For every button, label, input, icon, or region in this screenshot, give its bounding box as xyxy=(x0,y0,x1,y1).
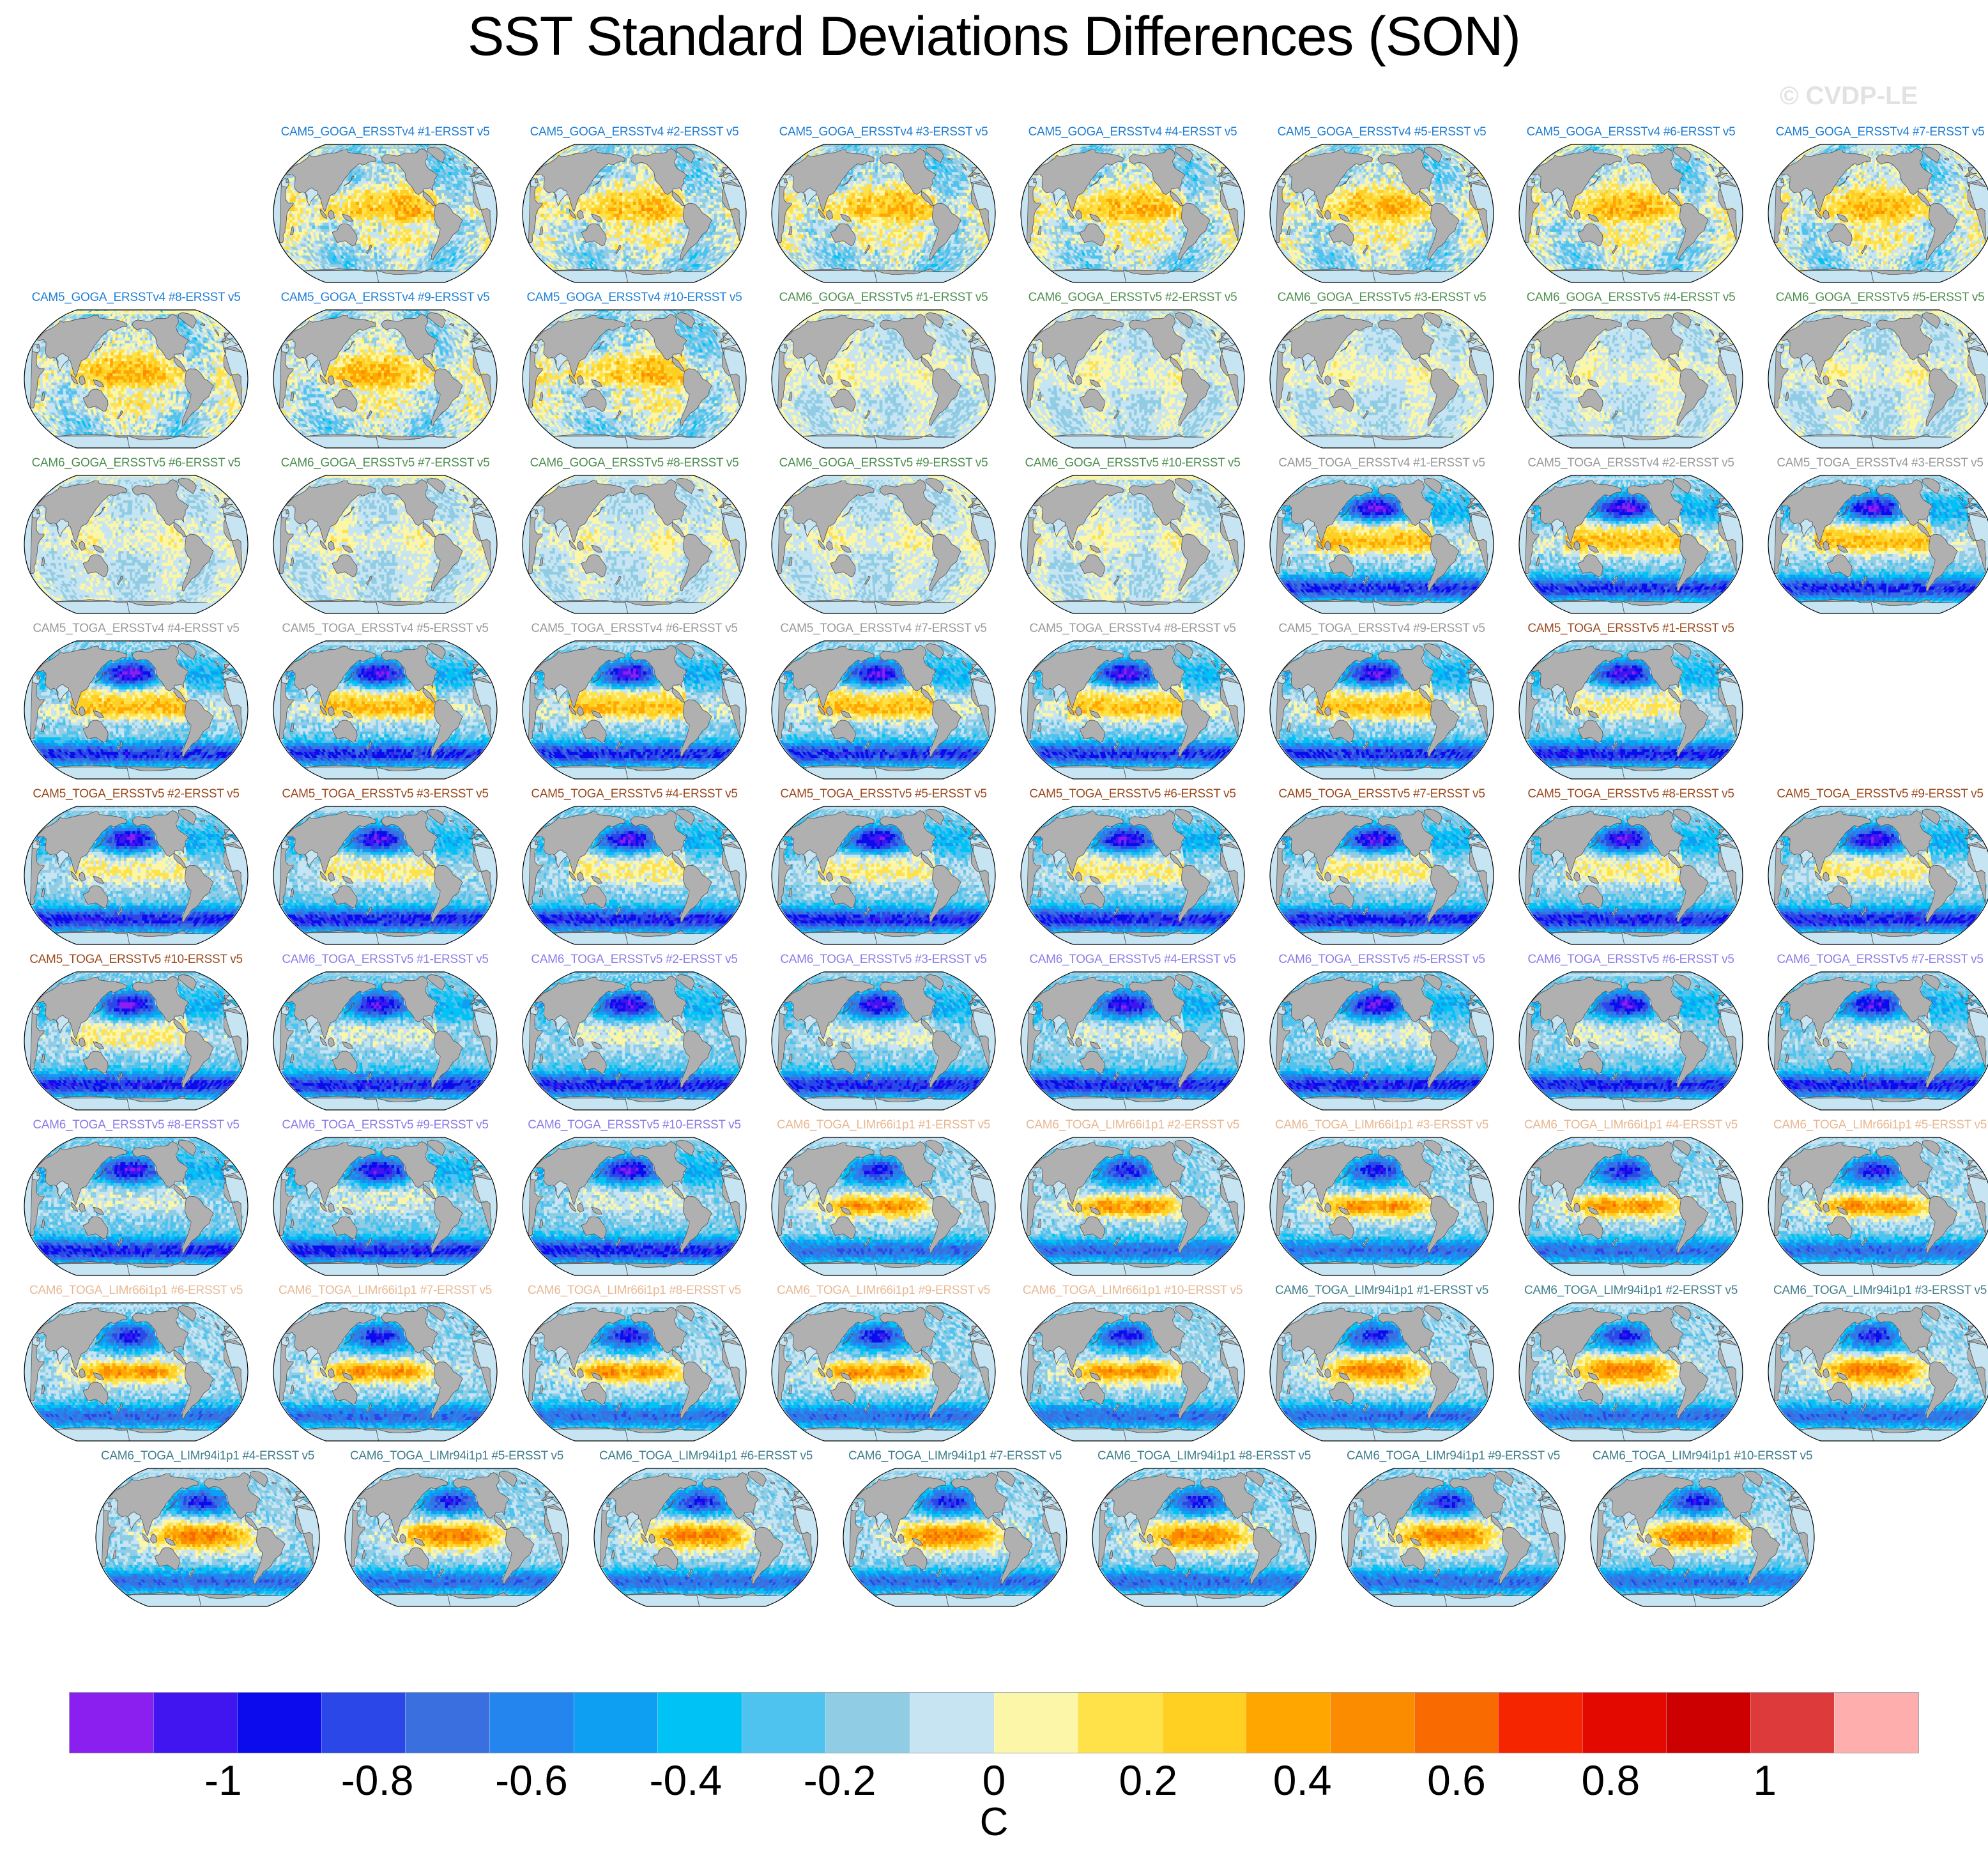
map-canvas xyxy=(1018,803,1247,948)
map-canvas xyxy=(1766,141,1988,286)
sst-difference-map xyxy=(271,803,500,948)
map-panel-title: CAM5_GOGA_ERSSTv4 #7-ERSST v5 xyxy=(1755,125,1988,139)
sst-difference-map xyxy=(271,472,500,617)
map-panel-title: CAM6_GOGA_ERSSTv5 #3-ERSST v5 xyxy=(1257,291,1506,305)
map-panel-title: CAM5_TOGA_ERSSTv4 #7-ERSST v5 xyxy=(759,622,1008,636)
map-panel[interactable]: CAM5_TOGA_ERSSTv5 #10-ERSST v5 xyxy=(11,953,261,1118)
map-panel[interactable]: CAM5_GOGA_ERSSTv4 #6-ERSST v5 xyxy=(1506,125,1755,291)
sst-difference-map xyxy=(1766,803,1988,948)
sst-difference-map xyxy=(1018,637,1247,783)
sst-difference-map xyxy=(520,1299,749,1445)
colorbar-tick-5: 0 xyxy=(983,1756,1006,1804)
map-panel[interactable]: CAM6_TOGA_LIMr66i1p1 #3-ERSST v5 xyxy=(1257,1118,1506,1284)
map-canvas xyxy=(769,637,998,783)
colorbar-cell xyxy=(489,1693,574,1753)
map-canvas xyxy=(342,1465,571,1610)
map-panel[interactable]: CAM6_TOGA_ERSSTv5 #9-ERSST v5 xyxy=(261,1118,510,1284)
map-canvas xyxy=(769,1134,998,1279)
map-panel[interactable]: CAM5_TOGA_ERSSTv5 #2-ERSST v5 xyxy=(11,787,261,953)
map-canvas xyxy=(1267,637,1496,783)
colorbar-cell xyxy=(1666,1693,1750,1753)
map-canvas xyxy=(271,968,500,1114)
colorbar-tick-6: 0.2 xyxy=(1119,1756,1177,1804)
map-panel-title: CAM5_TOGA_ERSSTv4 #1-ERSST v5 xyxy=(1257,456,1506,470)
map-canvas xyxy=(271,1299,500,1445)
map-panel[interactable]: CAM5_TOGA_ERSSTv4 #9-ERSST v5 xyxy=(1257,622,1506,787)
sst-difference-map xyxy=(769,1299,998,1445)
map-panel-title: CAM5_TOGA_ERSSTv5 #5-ERSST v5 xyxy=(759,787,1008,801)
map-canvas xyxy=(22,803,250,948)
map-panel[interactable]: CAM6_TOGA_LIMr94i1p1 #1-ERSST v5 xyxy=(1257,1284,1506,1449)
cvdp-watermark: © CVDP-LE xyxy=(1780,82,1918,111)
map-canvas xyxy=(1018,968,1247,1114)
sst-difference-map xyxy=(1018,968,1247,1114)
map-canvas xyxy=(22,1299,250,1445)
map-panel[interactable]: CAM5_TOGA_ERSSTv4 #2-ERSST v5 xyxy=(1506,456,1755,622)
map-panel[interactable]: CAM6_TOGA_LIMr66i1p1 #1-ERSST v5 xyxy=(759,1118,1008,1284)
map-panel-title: CAM6_GOGA_ERSSTv5 #8-ERSST v5 xyxy=(510,456,759,470)
map-panel-title: CAM6_TOGA_LIMr66i1p1 #10-ERSST v5 xyxy=(1008,1284,1257,1298)
map-panel-title: CAM5_GOGA_ERSSTv4 #10-ERSST v5 xyxy=(510,291,759,305)
colorbar xyxy=(69,1692,1919,1753)
sst-difference-map xyxy=(1766,1134,1988,1279)
sst-difference-map xyxy=(1517,968,1745,1114)
sst-difference-map xyxy=(769,803,998,948)
sst-difference-map xyxy=(769,306,998,452)
map-canvas xyxy=(520,306,749,452)
sst-difference-map xyxy=(520,306,749,452)
map-canvas xyxy=(1018,637,1247,783)
map-panel-title: CAM5_TOGA_ERSSTv5 #4-ERSST v5 xyxy=(510,787,759,801)
panel-row: CAM5_TOGA_ERSSTv5 #10-ERSST v5CAM6_TOGA_… xyxy=(0,953,1988,1118)
map-canvas xyxy=(22,637,250,783)
map-canvas xyxy=(22,1134,250,1279)
map-panel-title: CAM6_TOGA_LIMr66i1p1 #8-ERSST v5 xyxy=(510,1284,759,1298)
map-panel[interactable]: CAM6_TOGA_LIMr94i1p1 #3-ERSST v5 xyxy=(1755,1284,1988,1449)
panel-row: CAM5_TOGA_ERSSTv4 #4-ERSST v5CAM5_TOGA_E… xyxy=(0,622,1988,787)
map-panel[interactable]: CAM5_TOGA_ERSSTv4 #7-ERSST v5 xyxy=(759,622,1008,787)
colorbar-tick-10: 1 xyxy=(1753,1756,1777,1804)
map-panel[interactable]: CAM6_TOGA_LIMr66i1p1 #7-ERSST v5 xyxy=(261,1284,510,1449)
map-panel[interactable]: CAM6_GOGA_ERSSTv5 #5-ERSST v5 xyxy=(1755,291,1988,456)
map-panel[interactable]: CAM5_GOGA_ERSSTv4 #4-ERSST v5 xyxy=(1008,125,1257,291)
sst-difference-map xyxy=(22,1299,250,1445)
sst-difference-map xyxy=(1018,141,1247,286)
map-canvas xyxy=(1766,1134,1988,1279)
map-panel[interactable]: CAM5_GOGA_ERSSTv4 #1-ERSST v5 xyxy=(261,125,510,291)
map-canvas xyxy=(520,968,749,1114)
map-panel[interactable]: CAM6_GOGA_ERSSTv5 #2-ERSST v5 xyxy=(1008,291,1257,456)
map-canvas xyxy=(22,472,250,617)
panel-row: CAM6_TOGA_LIMr94i1p1 #4-ERSST v5CAM6_TOG… xyxy=(0,1449,1988,1615)
sst-difference-map xyxy=(520,141,749,286)
map-panel-title: CAM5_GOGA_ERSSTv4 #2-ERSST v5 xyxy=(510,125,759,139)
map-canvas xyxy=(769,472,998,617)
panel-row: CAM6_GOGA_ERSSTv5 #6-ERSST v5CAM6_GOGA_E… xyxy=(0,456,1988,622)
sst-difference-map xyxy=(520,472,749,617)
map-panel-title: CAM5_GOGA_ERSSTv4 #4-ERSST v5 xyxy=(1008,125,1257,139)
map-panel-title: CAM6_TOGA_LIMr66i1p1 #3-ERSST v5 xyxy=(1257,1118,1506,1132)
sst-difference-map xyxy=(592,1465,820,1610)
map-panel[interactable]: CAM6_GOGA_ERSSTv5 #9-ERSST v5 xyxy=(759,456,1008,622)
map-panel[interactable]: CAM6_TOGA_LIMr66i1p1 #4-ERSST v5 xyxy=(1506,1118,1755,1284)
map-canvas xyxy=(1018,141,1247,286)
sst-difference-map xyxy=(271,968,500,1114)
sst-difference-map xyxy=(769,472,998,617)
sst-difference-map xyxy=(1267,637,1496,783)
map-panel-title: CAM6_TOGA_ERSSTv5 #9-ERSST v5 xyxy=(261,1118,510,1132)
map-canvas xyxy=(1588,1465,1817,1610)
panel-grid: CAM5_GOGA_ERSSTv4 #1-ERSST v5CAM5_GOGA_E… xyxy=(0,125,1988,1615)
map-canvas xyxy=(1517,472,1745,617)
map-panel[interactable]: CAM6_GOGA_ERSSTv5 #3-ERSST v5 xyxy=(1257,291,1506,456)
map-panel[interactable]: CAM6_TOGA_ERSSTv5 #10-ERSST v5 xyxy=(510,1118,759,1284)
map-panel-title: CAM6_TOGA_ERSSTv5 #5-ERSST v5 xyxy=(1257,953,1506,967)
map-panel[interactable]: CAM6_GOGA_ERSSTv5 #1-ERSST v5 xyxy=(759,291,1008,456)
map-panel[interactable]: CAM5_TOGA_ERSSTv5 #8-ERSST v5 xyxy=(1506,787,1755,953)
map-canvas xyxy=(520,803,749,948)
sst-difference-map xyxy=(1267,141,1496,286)
map-panel-title: CAM6_GOGA_ERSSTv5 #10-ERSST v5 xyxy=(1008,456,1257,470)
map-panel[interactable]: CAM5_TOGA_ERSSTv5 #5-ERSST v5 xyxy=(759,787,1008,953)
sst-difference-map xyxy=(1766,306,1988,452)
map-canvas xyxy=(22,306,250,452)
colorbar-tick-9: 0.8 xyxy=(1581,1756,1640,1804)
map-panel[interactable]: CAM5_TOGA_ERSSTv4 #1-ERSST v5 xyxy=(1257,456,1506,622)
map-canvas xyxy=(1018,472,1247,617)
colorbar-tick-8: 0.6 xyxy=(1427,1756,1486,1804)
map-panel-title: CAM6_TOGA_LIMr94i1p1 #2-ERSST v5 xyxy=(1506,1284,1755,1298)
map-panel-title: CAM5_TOGA_ERSSTv5 #6-ERSST v5 xyxy=(1008,787,1257,801)
map-panel-title: CAM6_TOGA_LIMr94i1p1 #5-ERSST v5 xyxy=(332,1449,581,1463)
map-panel-title: CAM5_TOGA_ERSSTv5 #3-ERSST v5 xyxy=(261,787,510,801)
sst-difference-map xyxy=(342,1465,571,1610)
map-panel[interactable]: CAM6_GOGA_ERSSTv5 #6-ERSST v5 xyxy=(11,456,261,622)
sst-difference-map xyxy=(1267,968,1496,1114)
map-panel-title: CAM5_TOGA_ERSSTv5 #1-ERSST v5 xyxy=(1506,622,1755,636)
map-panel[interactable]: CAM5_TOGA_ERSSTv5 #3-ERSST v5 xyxy=(261,787,510,953)
map-canvas xyxy=(1267,968,1496,1114)
colorbar-cell xyxy=(1750,1693,1835,1753)
sst-difference-map xyxy=(22,1134,250,1279)
map-panel[interactable]: CAM6_TOGA_LIMr94i1p1 #7-ERSST v5 xyxy=(830,1449,1080,1615)
map-canvas xyxy=(769,306,998,452)
sst-difference-map xyxy=(271,306,500,452)
map-canvas xyxy=(1267,1299,1496,1445)
sst-difference-map xyxy=(1766,1299,1988,1445)
map-canvas xyxy=(1018,1299,1247,1445)
map-panel-title: CAM6_TOGA_LIMr66i1p1 #7-ERSST v5 xyxy=(261,1284,510,1298)
map-panel-title: CAM5_GOGA_ERSSTv4 #8-ERSST v5 xyxy=(11,291,261,305)
map-canvas xyxy=(1339,1465,1568,1610)
map-panel-title: CAM5_GOGA_ERSSTv4 #5-ERSST v5 xyxy=(1257,125,1506,139)
sst-difference-map xyxy=(1018,306,1247,452)
sst-difference-map xyxy=(1267,472,1496,617)
map-panel[interactable]: CAM5_GOGA_ERSSTv4 #8-ERSST v5 xyxy=(11,291,261,456)
sst-difference-map xyxy=(271,1134,500,1279)
map-panel-title: CAM5_TOGA_ERSSTv5 #8-ERSST v5 xyxy=(1506,787,1755,801)
map-canvas xyxy=(769,968,998,1114)
sst-difference-map xyxy=(1018,1134,1247,1279)
sst-difference-map xyxy=(1517,472,1745,617)
map-panel-title: CAM6_TOGA_ERSSTv5 #2-ERSST v5 xyxy=(510,953,759,967)
map-panel-title: CAM5_TOGA_ERSSTv5 #7-ERSST v5 xyxy=(1257,787,1506,801)
sst-difference-map xyxy=(1267,306,1496,452)
sst-difference-map xyxy=(841,1465,1069,1610)
map-panel[interactable]: CAM6_TOGA_LIMr94i1p1 #8-ERSST v5 xyxy=(1080,1449,1329,1615)
map-panel-title: CAM6_TOGA_ERSSTv5 #4-ERSST v5 xyxy=(1008,953,1257,967)
map-panel-title: CAM6_TOGA_LIMr94i1p1 #8-ERSST v5 xyxy=(1080,1449,1329,1463)
map-panel[interactable]: CAM6_GOGA_ERSSTv5 #8-ERSST v5 xyxy=(510,456,759,622)
map-panel[interactable]: CAM6_TOGA_ERSSTv5 #2-ERSST v5 xyxy=(510,953,759,1118)
map-panel-title: CAM6_TOGA_LIMr94i1p1 #9-ERSST v5 xyxy=(1329,1449,1578,1463)
map-panel-title: CAM6_TOGA_LIMr94i1p1 #3-ERSST v5 xyxy=(1755,1284,1988,1298)
map-panel-title: CAM5_TOGA_ERSSTv4 #3-ERSST v5 xyxy=(1755,456,1988,470)
map-panel-title: CAM5_GOGA_ERSSTv4 #9-ERSST v5 xyxy=(261,291,510,305)
map-canvas xyxy=(769,1299,998,1445)
panel-row: CAM5_GOGA_ERSSTv4 #1-ERSST v5CAM5_GOGA_E… xyxy=(0,125,1988,291)
map-canvas xyxy=(1766,968,1988,1114)
map-panel[interactable]: CAM5_TOGA_ERSSTv4 #6-ERSST v5 xyxy=(510,622,759,787)
map-panel-title: CAM5_TOGA_ERSSTv4 #4-ERSST v5 xyxy=(11,622,261,636)
map-panel-title: CAM6_GOGA_ERSSTv5 #7-ERSST v5 xyxy=(261,456,510,470)
sst-difference-map xyxy=(1090,1465,1319,1610)
map-panel[interactable]: CAM5_TOGA_ERSSTv5 #7-ERSST v5 xyxy=(1257,787,1506,953)
sst-difference-map xyxy=(520,968,749,1114)
map-canvas xyxy=(271,637,500,783)
map-panel[interactable]: CAM6_TOGA_LIMr94i1p1 #9-ERSST v5 xyxy=(1329,1449,1578,1615)
map-panel[interactable]: CAM5_TOGA_ERSSTv5 #4-ERSST v5 xyxy=(510,787,759,953)
sst-difference-map xyxy=(22,968,250,1114)
colorbar-cell xyxy=(1834,1693,1918,1753)
map-canvas xyxy=(841,1465,1069,1610)
map-panel[interactable]: CAM6_GOGA_ERSSTv5 #4-ERSST v5 xyxy=(1506,291,1755,456)
map-panel[interactable]: CAM6_TOGA_LIMr94i1p1 #4-ERSST v5 xyxy=(83,1449,332,1615)
map-canvas xyxy=(1018,1134,1247,1279)
colorbar-cell xyxy=(574,1693,658,1753)
sst-difference-map xyxy=(271,1299,500,1445)
sst-difference-map xyxy=(22,306,250,452)
sst-difference-map xyxy=(1766,968,1988,1114)
map-panel-title: CAM6_TOGA_LIMr66i1p1 #2-ERSST v5 xyxy=(1008,1118,1257,1132)
map-panel-title: CAM6_TOGA_ERSSTv5 #10-ERSST v5 xyxy=(510,1118,759,1132)
panel-row: CAM5_GOGA_ERSSTv4 #8-ERSST v5CAM5_GOGA_E… xyxy=(0,291,1988,456)
map-panel[interactable]: CAM6_TOGA_ERSSTv5 #6-ERSST v5 xyxy=(1506,953,1755,1118)
sst-difference-map xyxy=(1339,1465,1568,1610)
map-canvas xyxy=(1766,803,1988,948)
colorbar-cell xyxy=(237,1693,321,1753)
map-canvas xyxy=(520,1134,749,1279)
map-panel-title: CAM6_TOGA_ERSSTv5 #3-ERSST v5 xyxy=(759,953,1008,967)
map-canvas xyxy=(271,803,500,948)
map-panel-title: CAM6_TOGA_ERSSTv5 #7-ERSST v5 xyxy=(1755,953,1988,967)
map-panel-title: CAM5_GOGA_ERSSTv4 #3-ERSST v5 xyxy=(759,125,1008,139)
map-panel-title: CAM5_TOGA_ERSSTv4 #6-ERSST v5 xyxy=(510,622,759,636)
map-panel[interactable]: CAM6_TOGA_LIMr94i1p1 #6-ERSST v5 xyxy=(581,1449,830,1615)
map-canvas xyxy=(1766,472,1988,617)
colorbar-cell xyxy=(153,1693,238,1753)
map-panel-title: CAM5_TOGA_ERSSTv5 #2-ERSST v5 xyxy=(11,787,261,801)
colorbar-cell xyxy=(910,1693,994,1753)
sst-difference-map xyxy=(1018,803,1247,948)
colorbar-cell xyxy=(657,1693,742,1753)
map-panel[interactable]: CAM6_TOGA_LIMr94i1p1 #2-ERSST v5 xyxy=(1506,1284,1755,1449)
map-panel[interactable]: CAM5_GOGA_ERSSTv4 #5-ERSST v5 xyxy=(1257,125,1506,291)
map-panel-title: CAM6_TOGA_ERSSTv5 #8-ERSST v5 xyxy=(11,1118,261,1132)
colorbar-cell xyxy=(1582,1693,1667,1753)
sst-difference-map xyxy=(22,472,250,617)
sst-difference-map xyxy=(520,803,749,948)
sst-difference-map xyxy=(769,637,998,783)
map-panel[interactable]: CAM6_TOGA_ERSSTv5 #5-ERSST v5 xyxy=(1257,953,1506,1118)
colorbar-cell xyxy=(1498,1693,1582,1753)
map-panel[interactable]: CAM6_TOGA_LIMr66i1p1 #2-ERSST v5 xyxy=(1008,1118,1257,1284)
map-panel-title: CAM5_TOGA_ERSSTv5 #10-ERSST v5 xyxy=(11,953,261,967)
sst-difference-map xyxy=(1517,637,1745,783)
map-canvas xyxy=(592,1465,820,1610)
map-panel-title: CAM6_GOGA_ERSSTv5 #9-ERSST v5 xyxy=(759,456,1008,470)
map-panel[interactable]: CAM5_GOGA_ERSSTv4 #3-ERSST v5 xyxy=(759,125,1008,291)
map-canvas xyxy=(271,141,500,286)
colorbar-cell xyxy=(1414,1693,1499,1753)
map-canvas xyxy=(769,141,998,286)
map-canvas xyxy=(1267,472,1496,617)
map-panel-title: CAM5_GOGA_ERSSTv4 #6-ERSST v5 xyxy=(1506,125,1755,139)
sst-difference-map xyxy=(1267,803,1496,948)
colorbar-tick-7: 0.4 xyxy=(1273,1756,1332,1804)
panel-row: CAM6_TOGA_ERSSTv5 #8-ERSST v5CAM6_TOGA_E… xyxy=(0,1118,1988,1284)
panel-row: CAM5_TOGA_ERSSTv5 #2-ERSST v5CAM5_TOGA_E… xyxy=(0,787,1988,953)
map-panel[interactable]: CAM5_TOGA_ERSSTv4 #4-ERSST v5 xyxy=(11,622,261,787)
map-canvas xyxy=(1090,1465,1319,1610)
map-panel[interactable]: CAM6_TOGA_ERSSTv5 #8-ERSST v5 xyxy=(11,1118,261,1284)
sst-difference-map xyxy=(1766,141,1988,286)
sst-difference-map xyxy=(1517,803,1745,948)
map-canvas xyxy=(1517,968,1745,1114)
colorbar-tick-0: -1 xyxy=(204,1756,242,1804)
map-panel[interactable]: CAM6_TOGA_ERSSTv5 #3-ERSST v5 xyxy=(759,953,1008,1118)
colorbar-cell xyxy=(1330,1693,1414,1753)
map-panel-title: CAM6_TOGA_LIMr66i1p1 #9-ERSST v5 xyxy=(759,1284,1008,1298)
map-canvas xyxy=(1267,306,1496,452)
map-panel-title: CAM5_TOGA_ERSSTv4 #5-ERSST v5 xyxy=(261,622,510,636)
map-panel[interactable]: CAM6_TOGA_ERSSTv5 #7-ERSST v5 xyxy=(1755,953,1988,1118)
map-panel[interactable]: CAM6_TOGA_LIMr66i1p1 #9-ERSST v5 xyxy=(759,1284,1008,1449)
map-canvas xyxy=(520,472,749,617)
map-panel-title: CAM5_GOGA_ERSSTv4 #1-ERSST v5 xyxy=(261,125,510,139)
map-panel[interactable]: CAM6_GOGA_ERSSTv5 #7-ERSST v5 xyxy=(261,456,510,622)
map-canvas xyxy=(1018,306,1247,452)
map-panel[interactable]: CAM5_TOGA_ERSSTv5 #1-ERSST v5 xyxy=(1506,622,1755,787)
sst-difference-map xyxy=(1018,1299,1247,1445)
map-panel-title: CAM6_TOGA_ERSSTv5 #1-ERSST v5 xyxy=(261,953,510,967)
map-panel[interactable]: CAM5_TOGA_ERSSTv4 #8-ERSST v5 xyxy=(1008,622,1257,787)
map-panel[interactable]: CAM5_GOGA_ERSSTv4 #7-ERSST v5 xyxy=(1755,125,1988,291)
map-panel[interactable]: CAM6_TOGA_LIMr94i1p1 #5-ERSST v5 xyxy=(332,1449,581,1615)
map-panel[interactable]: CAM6_GOGA_ERSSTv5 #10-ERSST v5 xyxy=(1008,456,1257,622)
map-canvas xyxy=(1517,803,1745,948)
colorbar-tick-4: -0.2 xyxy=(804,1756,876,1804)
map-panel-title: CAM6_GOGA_ERSSTv5 #5-ERSST v5 xyxy=(1755,291,1988,305)
panel-row: CAM6_TOGA_LIMr66i1p1 #6-ERSST v5CAM6_TOG… xyxy=(0,1284,1988,1449)
map-panel[interactable]: CAM5_TOGA_ERSSTv5 #9-ERSST v5 xyxy=(1755,787,1988,953)
sst-difference-map xyxy=(1588,1465,1817,1610)
map-canvas xyxy=(1517,1134,1745,1279)
colorbar-unit-label: C xyxy=(0,1799,1988,1845)
map-canvas xyxy=(520,141,749,286)
map-canvas xyxy=(1517,141,1745,286)
sst-difference-map xyxy=(1517,141,1745,286)
map-panel[interactable]: CAM5_GOGA_ERSSTv4 #2-ERSST v5 xyxy=(510,125,759,291)
map-panel-title: CAM6_GOGA_ERSSTv5 #2-ERSST v5 xyxy=(1008,291,1257,305)
map-panel-title: CAM6_TOGA_ERSSTv5 #6-ERSST v5 xyxy=(1506,953,1755,967)
sst-difference-map xyxy=(520,637,749,783)
sst-difference-map xyxy=(769,141,998,286)
map-panel-title: CAM6_TOGA_LIMr94i1p1 #7-ERSST v5 xyxy=(830,1449,1080,1463)
map-canvas xyxy=(1517,306,1745,452)
map-canvas xyxy=(1766,306,1988,452)
map-canvas xyxy=(271,1134,500,1279)
map-panel-title: CAM6_TOGA_LIMr66i1p1 #5-ERSST v5 xyxy=(1755,1118,1988,1132)
map-canvas xyxy=(520,1299,749,1445)
map-panel[interactable]: CAM6_TOGA_ERSSTv5 #1-ERSST v5 xyxy=(261,953,510,1118)
sst-difference-map xyxy=(1766,472,1988,617)
map-panel-title: CAM6_GOGA_ERSSTv5 #6-ERSST v5 xyxy=(11,456,261,470)
colorbar-cell xyxy=(1246,1693,1330,1753)
colorbar-cell xyxy=(994,1693,1078,1753)
map-panel-title: CAM5_TOGA_ERSSTv5 #9-ERSST v5 xyxy=(1755,787,1988,801)
map-panel-title: CAM6_TOGA_LIMr66i1p1 #1-ERSST v5 xyxy=(759,1118,1008,1132)
map-panel[interactable]: CAM5_TOGA_ERSSTv4 #5-ERSST v5 xyxy=(261,622,510,787)
sst-difference-map xyxy=(1018,472,1247,617)
map-canvas xyxy=(1766,1299,1988,1445)
colorbar-cell xyxy=(1078,1693,1162,1753)
sst-difference-map xyxy=(271,141,500,286)
map-panel[interactable]: CAM6_TOGA_LIMr66i1p1 #5-ERSST v5 xyxy=(1755,1118,1988,1284)
sst-difference-map xyxy=(22,803,250,948)
map-panel[interactable]: CAM5_GOGA_ERSSTv4 #9-ERSST v5 xyxy=(261,291,510,456)
map-panel-title: CAM6_TOGA_LIMr66i1p1 #4-ERSST v5 xyxy=(1506,1118,1755,1132)
sst-difference-map xyxy=(769,1134,998,1279)
map-panel[interactable]: CAM6_TOGA_ERSSTv5 #4-ERSST v5 xyxy=(1008,953,1257,1118)
map-panel[interactable]: CAM6_TOGA_LIMr94i1p1 #10-ERSST v5 xyxy=(1578,1449,1827,1615)
map-panel[interactable]: CAM5_GOGA_ERSSTv4 #10-ERSST v5 xyxy=(510,291,759,456)
map-panel-title: CAM5_TOGA_ERSSTv4 #9-ERSST v5 xyxy=(1257,622,1506,636)
map-panel[interactable]: CAM6_TOGA_LIMr66i1p1 #6-ERSST v5 xyxy=(11,1284,261,1449)
map-panel[interactable]: CAM6_TOGA_LIMr66i1p1 #10-ERSST v5 xyxy=(1008,1284,1257,1449)
map-panel-title: CAM6_TOGA_LIMr94i1p1 #10-ERSST v5 xyxy=(1578,1449,1827,1463)
colorbar-cell xyxy=(742,1693,826,1753)
sst-difference-map xyxy=(1517,1299,1745,1445)
map-panel[interactable]: CAM5_TOGA_ERSSTv4 #3-ERSST v5 xyxy=(1755,456,1988,622)
colorbar-cell xyxy=(825,1693,910,1753)
sst-difference-map xyxy=(93,1465,322,1610)
map-canvas xyxy=(520,637,749,783)
map-panel[interactable]: CAM5_TOGA_ERSSTv5 #6-ERSST v5 xyxy=(1008,787,1257,953)
map-canvas xyxy=(22,968,250,1114)
map-canvas xyxy=(1517,637,1745,783)
colorbar-tick-2: -0.6 xyxy=(495,1756,568,1804)
map-canvas xyxy=(271,472,500,617)
map-canvas xyxy=(1267,141,1496,286)
map-canvas xyxy=(1267,803,1496,948)
sst-difference-map xyxy=(769,968,998,1114)
map-panel-title: CAM6_TOGA_LIMr94i1p1 #6-ERSST v5 xyxy=(581,1449,830,1463)
colorbar-cell xyxy=(405,1693,489,1753)
map-panel-title: CAM6_TOGA_LIMr94i1p1 #4-ERSST v5 xyxy=(83,1449,332,1463)
colorbar-cell xyxy=(321,1693,406,1753)
map-panel[interactable]: CAM6_TOGA_LIMr66i1p1 #8-ERSST v5 xyxy=(510,1284,759,1449)
